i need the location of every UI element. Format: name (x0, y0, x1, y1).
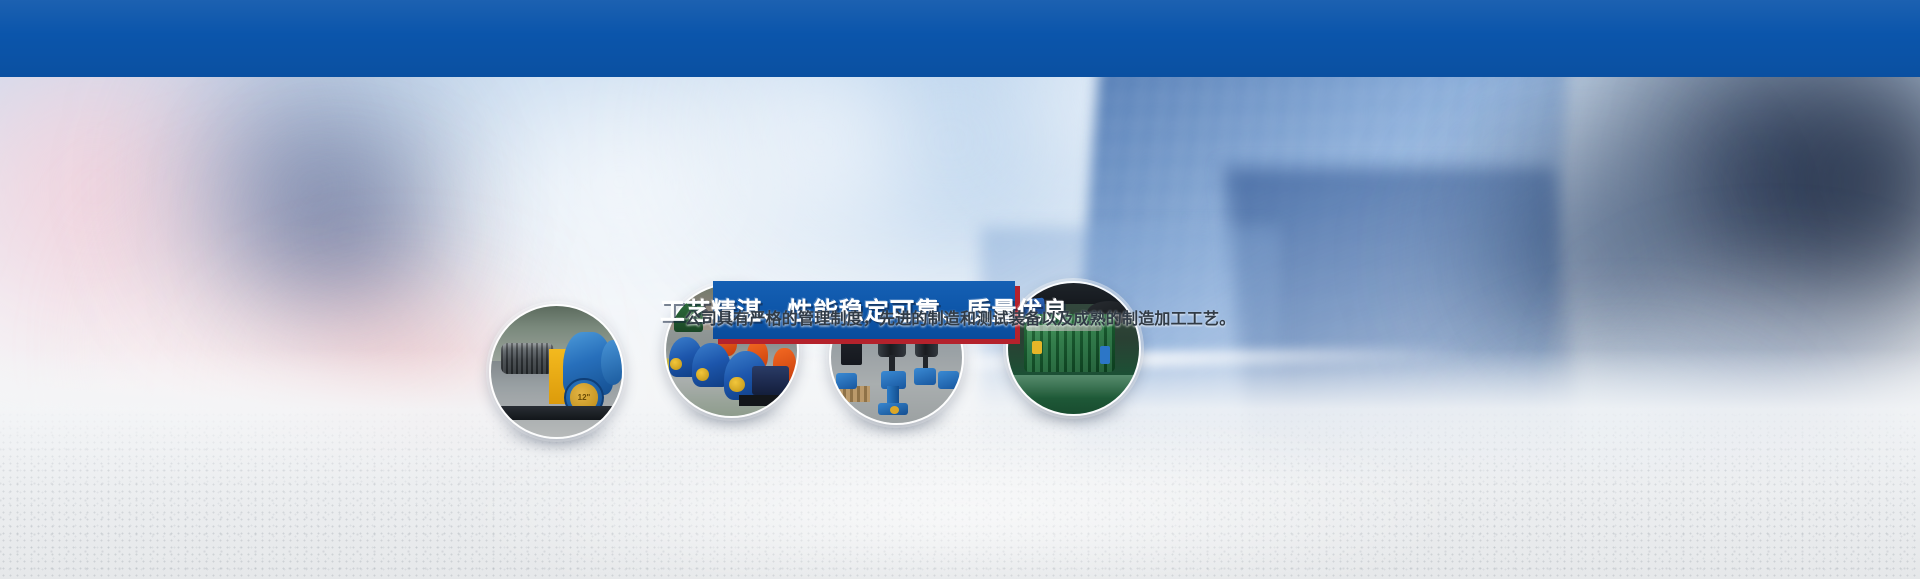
top-bar-sheen (0, 0, 1920, 77)
hero-banner: 12" (0, 77, 1920, 579)
banner-stage: 12" (0, 0, 1920, 579)
subtitle-text: 公司具有严格的管理制度，先进的制造和测试装备以及成熟的制造加工工艺。 (0, 305, 1920, 329)
top-blue-bar (0, 0, 1920, 77)
pump-size-label: 12" (578, 393, 591, 402)
